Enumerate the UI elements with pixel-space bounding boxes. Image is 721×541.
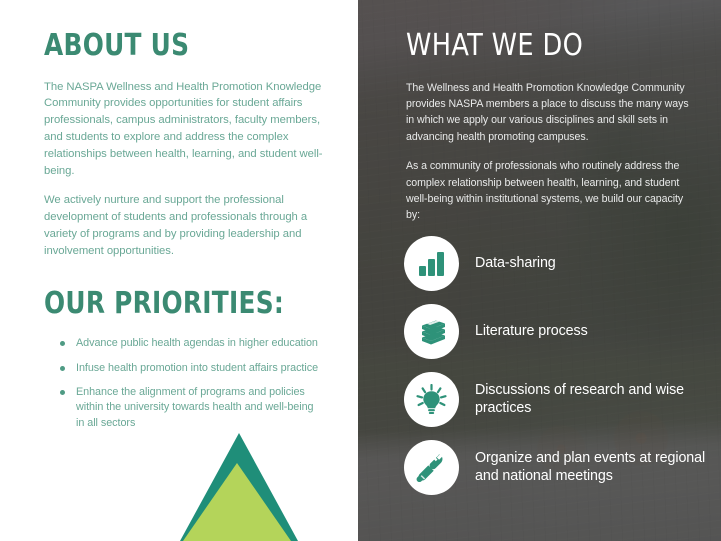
what-we-do-heading: WHAT WE DO xyxy=(406,30,682,62)
capability-icon-list: Data-sharing xyxy=(404,236,721,508)
right-panel-content: WHAT WE DO The Wellness and Health Promo… xyxy=(406,30,696,224)
what-we-do-paragraph-1: The Wellness and Health Promotion Knowle… xyxy=(406,80,696,146)
list-item: Infuse health promotion into student aff… xyxy=(58,361,324,376)
list-item: Enhance the alignment of programs and po… xyxy=(58,385,324,431)
list-item-label: Literature process xyxy=(475,323,588,340)
list-item[interactable]: Discussions of research and wise practic… xyxy=(404,372,721,427)
our-priorities-heading: OUR PRIORITIES: xyxy=(44,288,302,320)
what-we-do-paragraph-2: As a community of professionals who rout… xyxy=(406,158,696,224)
about-us-paragraph-1: The NASPA Wellness and Health Promotion … xyxy=(44,79,324,181)
list-item-label: Discussions of research and wise practic… xyxy=(475,382,721,416)
list-item: Advance public health agendas in higher … xyxy=(58,336,324,351)
triangle-dark-teal xyxy=(180,433,298,541)
about-us-heading: ABOUT US xyxy=(44,30,302,62)
list-item-label: Organize and plan events at regional and… xyxy=(475,450,721,484)
tools-icon xyxy=(404,440,459,495)
lightbulb-icon xyxy=(404,372,459,427)
list-item[interactable]: Literature process xyxy=(404,304,721,359)
priorities-list: Advance public health agendas in higher … xyxy=(44,336,324,431)
bar-chart-icon xyxy=(404,236,459,291)
about-us-paragraph-2: We actively nurture and support the prof… xyxy=(44,192,324,260)
left-panel: ABOUT US The NASPA Wellness and Health P… xyxy=(0,0,358,541)
list-item[interactable]: Data-sharing xyxy=(404,236,721,291)
left-panel-content: ABOUT US The NASPA Wellness and Health P… xyxy=(44,30,324,440)
triangle-lime xyxy=(183,463,291,541)
list-item-label: Data-sharing xyxy=(475,255,556,272)
list-item[interactable]: Organize and plan events at regional and… xyxy=(404,440,721,495)
slide-canvas: WHAT WE DO The Wellness and Health Promo… xyxy=(0,0,721,541)
books-icon xyxy=(404,304,459,359)
